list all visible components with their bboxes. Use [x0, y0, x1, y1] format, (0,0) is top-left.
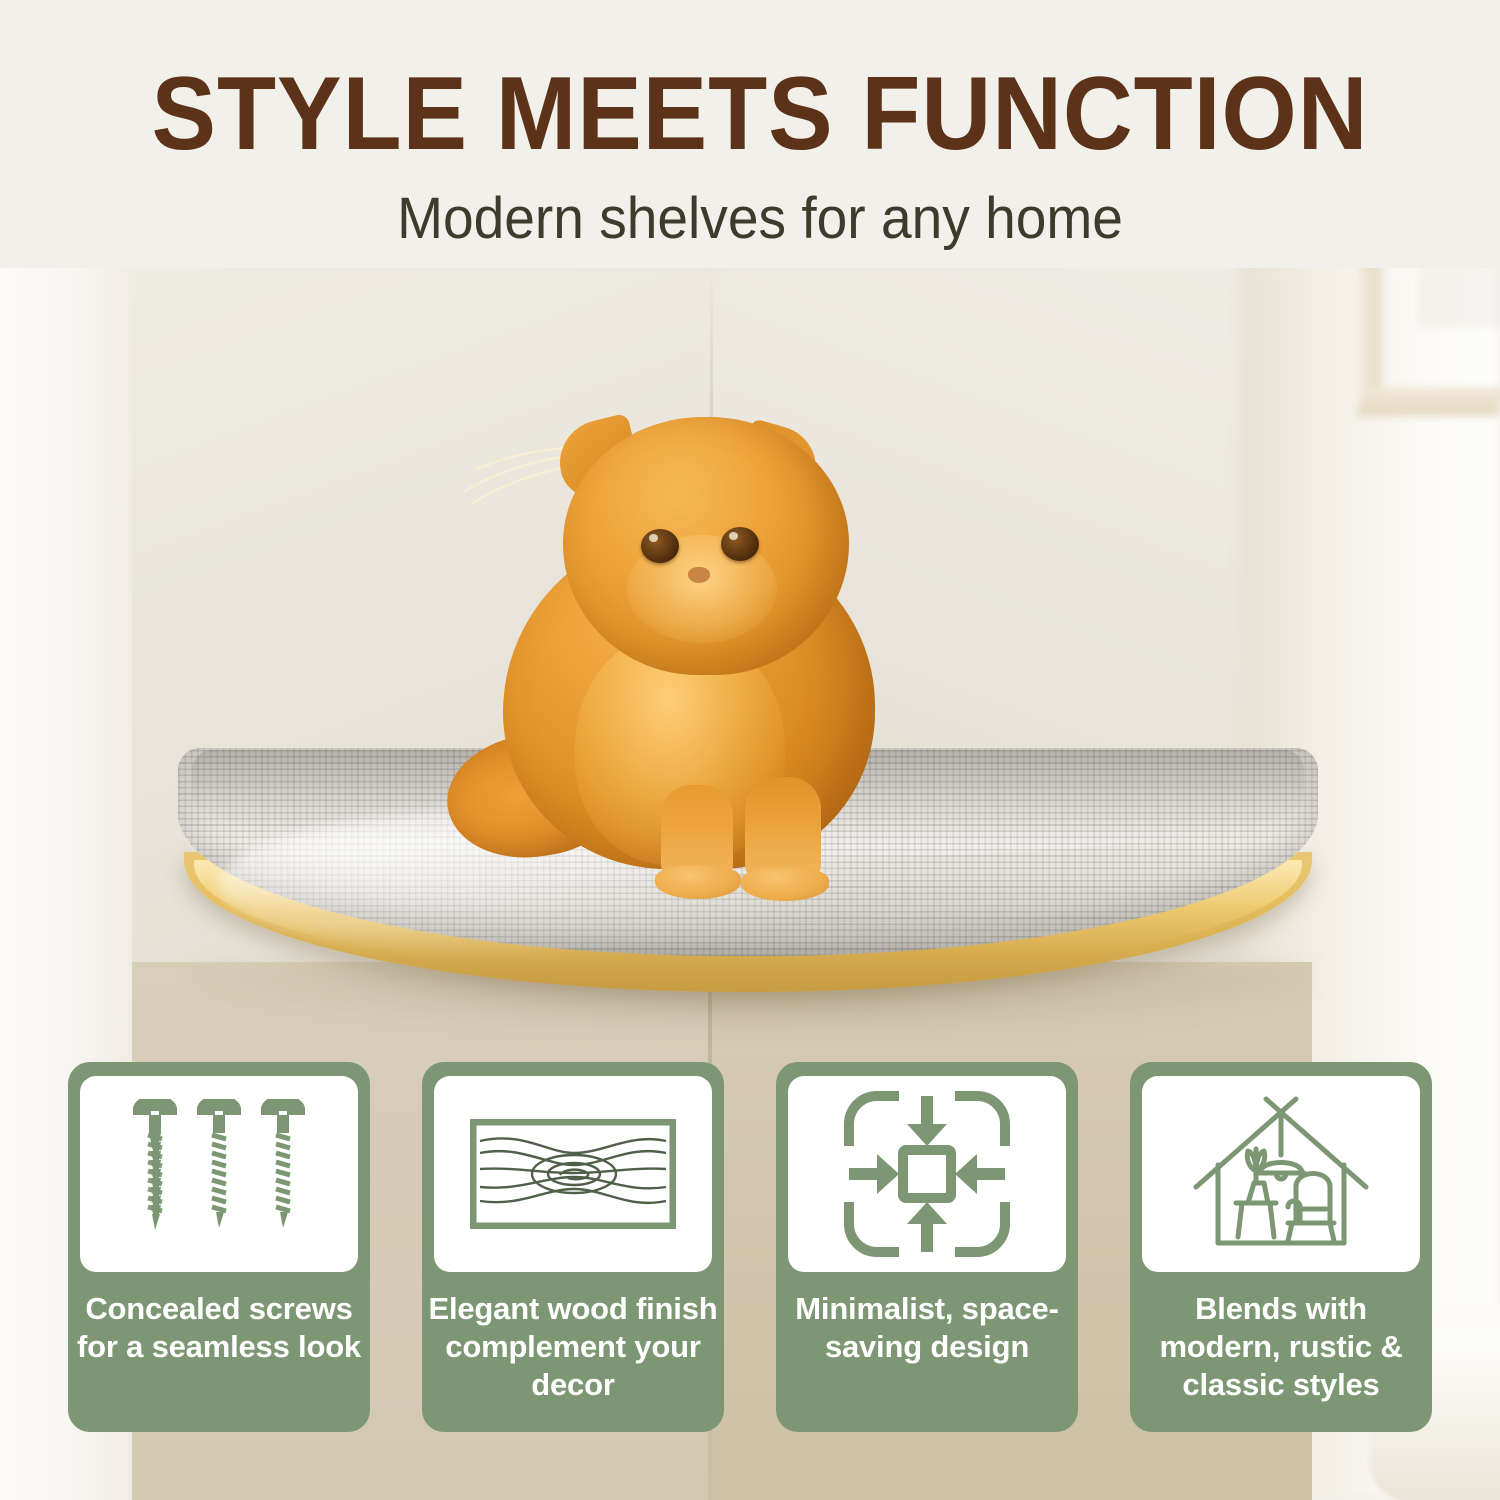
- cat-eye-right: [721, 527, 759, 561]
- home-interior-icon: [1188, 1091, 1374, 1257]
- page-title: STYLE MEETS FUNCTION: [100, 62, 1421, 166]
- icon-panel: [434, 1076, 712, 1272]
- feature-label: Concealed screws for a seamless look: [74, 1290, 364, 1366]
- feature-label: Blends with modern, rustic & classic sty…: [1136, 1290, 1426, 1404]
- icon-panel: [1142, 1076, 1420, 1272]
- feature-card-space-saving[interactable]: Minimalist, space-saving design: [776, 1062, 1078, 1432]
- feature-card-wood-finish[interactable]: Elegant wood finish complement your deco…: [422, 1062, 724, 1432]
- icon-panel: [788, 1076, 1066, 1272]
- page-subtitle: Modern shelves for any home: [86, 188, 1435, 250]
- icon-panel: [80, 1076, 358, 1272]
- cat-illustration: [455, 417, 925, 887]
- feature-card-style-blend[interactable]: Blends with modern, rustic & classic sty…: [1130, 1062, 1432, 1432]
- cat-nose: [688, 567, 710, 583]
- space-saving-arrows-icon: [841, 1088, 1013, 1260]
- feature-label: Minimalist, space-saving design: [782, 1290, 1072, 1366]
- cat-eye-left: [641, 529, 679, 563]
- header-banner: STYLE MEETS FUNCTION Modern shelves for …: [0, 0, 1500, 268]
- screws-icon: [127, 1099, 311, 1249]
- product-infographic: STYLE MEETS FUNCTION Modern shelves for …: [0, 0, 1500, 1500]
- feature-cards: Concealed screws for a seamless look: [0, 1062, 1500, 1442]
- wood-grain-icon: [470, 1119, 676, 1229]
- feature-card-concealed-screws[interactable]: Concealed screws for a seamless look: [68, 1062, 370, 1432]
- cat-paw-right: [741, 867, 829, 901]
- cat-paw-left: [655, 865, 741, 899]
- background-wall-shelf: [1352, 262, 1500, 410]
- feature-label: Elegant wood finish complement your deco…: [428, 1290, 718, 1404]
